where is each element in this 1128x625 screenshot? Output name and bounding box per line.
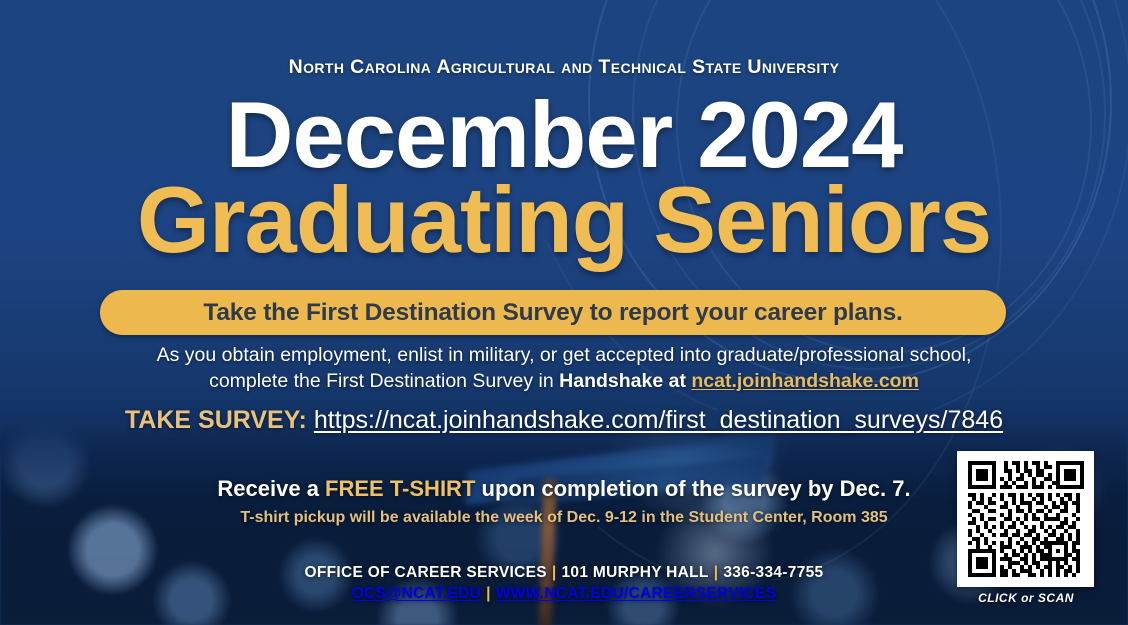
instructions-paragraph: As you obtain employment, enlist in mili… <box>0 343 1128 394</box>
footer-phone: 336-334-7755 <box>723 564 823 581</box>
survey-callout-banner: Take the First Destination Survey to rep… <box>100 290 1006 335</box>
footer-email[interactable]: OCS@NCAT.EDU <box>352 585 482 602</box>
instructions-line-2-prefix: complete the First Destination Survey in <box>209 370 559 392</box>
handshake-link[interactable]: ncat.joinhandshake.com <box>691 370 919 392</box>
tshirt-highlight: FREE T-SHIRT <box>325 476 475 501</box>
footer-address: 101 MURPHY HALL <box>562 564 709 581</box>
take-survey-url[interactable]: https://ncat.joinhandshake.com/first_des… <box>314 406 1003 434</box>
take-survey-label: TAKE SURVEY: <box>125 406 307 434</box>
qr-caption: CLICK or SCAN <box>940 591 1112 605</box>
survey-callout-text: Take the First Destination Survey to rep… <box>203 299 902 327</box>
tshirt-suffix: upon completion of the survey by Dec. 7. <box>475 476 910 501</box>
instructions-line-1: As you obtain employment, enlist in mili… <box>157 344 972 366</box>
handshake-bold-text: Handshake at <box>559 370 691 392</box>
title-line-date: December 2024 <box>0 90 1128 179</box>
poster-title: December 2024 Graduating Seniors <box>0 90 1128 267</box>
footer-office: OFFICE OF CAREER SERVICES <box>305 564 547 581</box>
footer-separator-2: | <box>709 564 724 581</box>
qr-code-icon[interactable] <box>968 461 1084 577</box>
tshirt-prefix: Receive a <box>217 476 325 501</box>
title-line-audience: Graduating Seniors <box>0 173 1128 267</box>
footer-website[interactable]: WWW.NCAT.EDU/CAREERSERVICES <box>496 585 777 602</box>
poster: North Carolina Agricultural and Technica… <box>0 0 1128 625</box>
take-survey-line: TAKE SURVEY: https://ncat.joinhandshake.… <box>0 406 1128 435</box>
footer-separator-1: | <box>547 564 562 581</box>
university-name: North Carolina Agricultural and Technica… <box>0 56 1128 79</box>
footer-separator-3: | <box>481 585 496 602</box>
qr-code-card[interactable] <box>957 451 1094 587</box>
